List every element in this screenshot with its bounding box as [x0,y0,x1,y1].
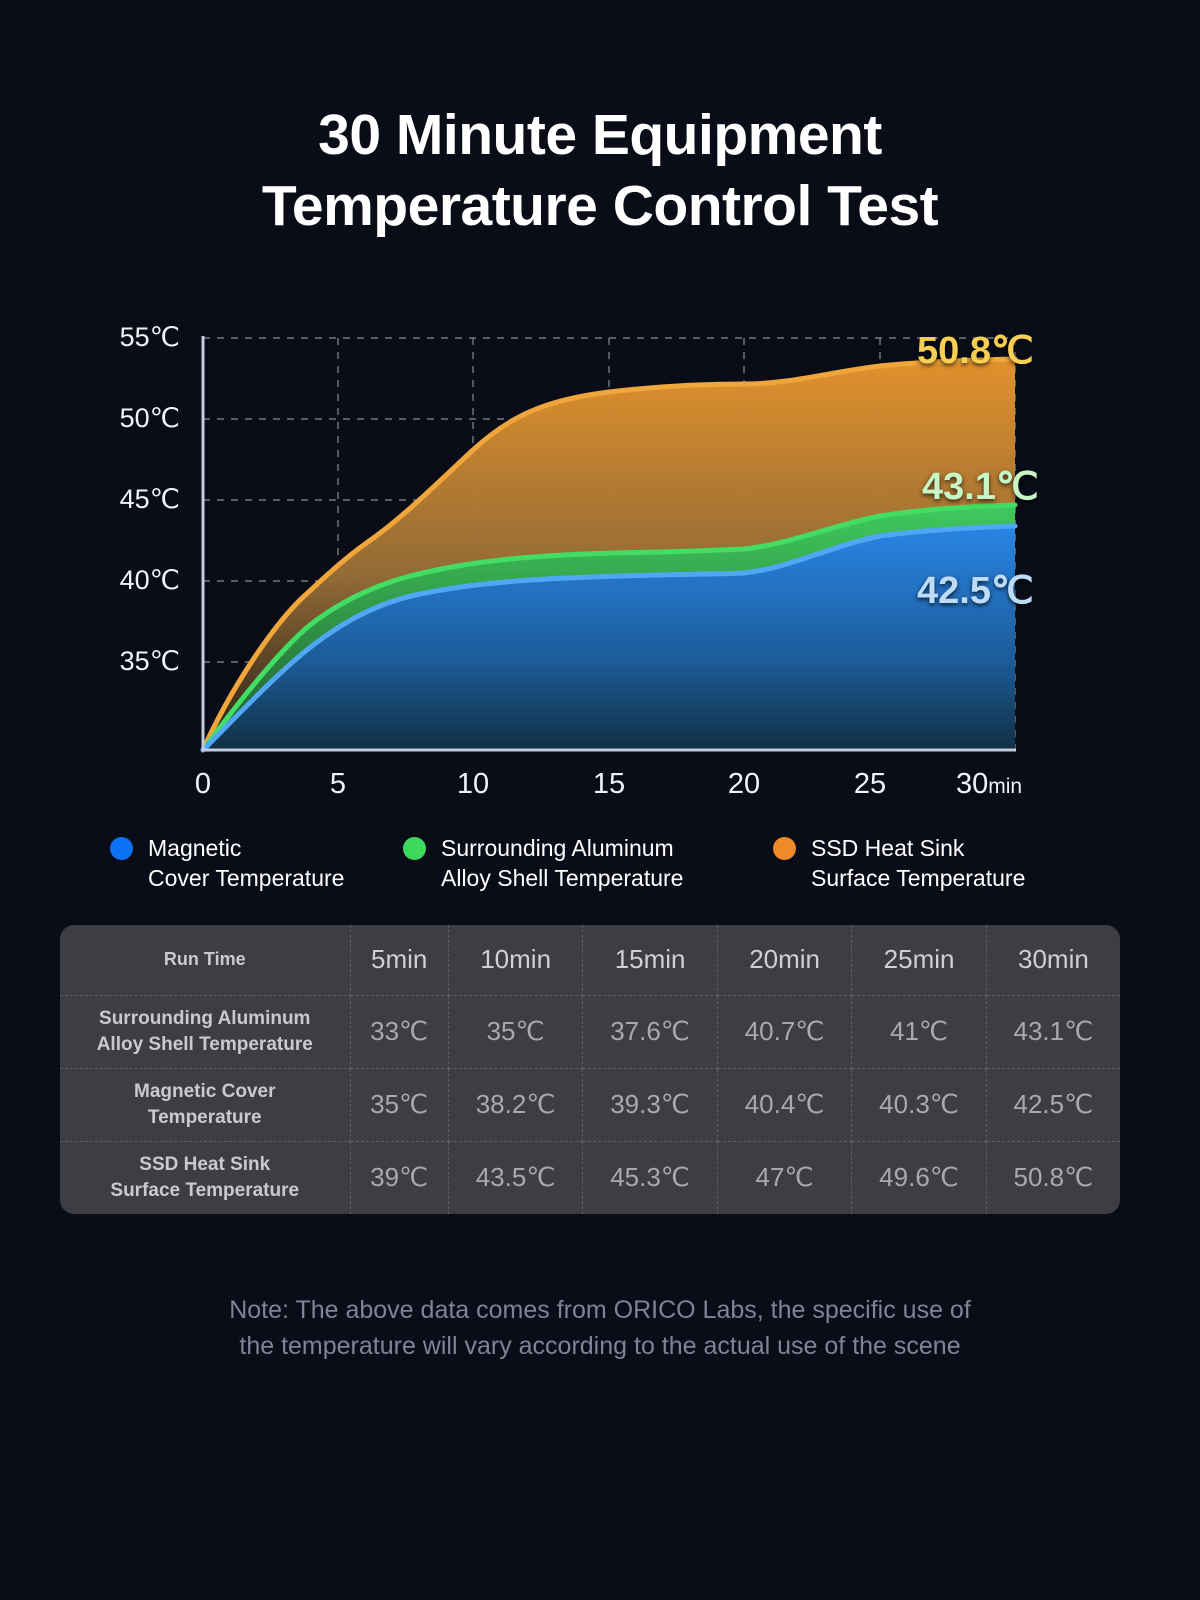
page-title-line-2: Temperature Control Test [0,171,1200,242]
x-axis-label-30-value: 30 [956,768,988,800]
x-axis-label-20: 20 [699,768,789,801]
y-axis-label-50: 50℃ [90,403,180,434]
legend-dot-icon-aluminum-shell [403,837,426,860]
column-header-5min: 5min [350,925,448,995]
x-axis-label-10: 10 [428,768,518,801]
x-axis-label-25: 25 [825,768,915,801]
x-axis-label-30: 30min [956,768,1096,801]
x-axis-label-5: 5 [293,768,383,801]
cell-magnetic-30min: 42.5℃ [986,1068,1120,1141]
cell-ssd-25min: 49.6℃ [852,1141,986,1214]
column-header-10min: 10min [448,925,582,995]
cell-aluminum-30min: 43.1℃ [986,995,1120,1068]
footnote-line-2: the temperature will vary according to t… [100,1328,1100,1364]
legend-label-line-1: Surrounding Aluminum [441,833,683,863]
row-label-line-2: Alloy Shell Temperature [74,1032,336,1058]
column-header-20min: 20min [717,925,851,995]
legend-label-ssd-heat-sink: SSD Heat Sink Surface Temperature [811,833,1025,894]
table-row: SSD Heat Sink Surface Temperature 39℃ 43… [60,1141,1120,1214]
data-table: Run Time 5min 10min 15min 20min 25min 30… [60,925,1120,1214]
cell-ssd-15min: 45.3℃ [583,1141,717,1214]
legend-dot-icon-ssd-heat-sink [773,837,796,860]
data-label-aluminum-shell: 43.1℃ [922,464,1039,509]
y-axis-label-45: 45℃ [90,484,180,515]
legend-label-line-1: SSD Heat Sink [811,833,1025,863]
cell-aluminum-20min: 40.7℃ [717,995,851,1068]
cell-aluminum-25min: 41℃ [852,995,986,1068]
legend-label-aluminum-shell: Surrounding Aluminum Alloy Shell Tempera… [441,833,683,894]
table-row: Magnetic Cover Temperature 35℃ 38.2℃ 39.… [60,1068,1120,1141]
row-label-line-1: Magnetic Cover [74,1079,336,1105]
table-row: Surrounding Aluminum Alloy Shell Tempera… [60,995,1120,1068]
temperature-data-table: Run Time 5min 10min 15min 20min 25min 30… [60,925,1120,1214]
row-label-line-1: Surrounding Aluminum [74,1006,336,1032]
infographic-page: 30 Minute Equipment Temperature Control … [0,0,1200,1600]
row-label-ssd-heat-sink: SSD Heat Sink Surface Temperature [60,1141,350,1214]
column-header-30min: 30min [986,925,1120,995]
page-title: 30 Minute Equipment Temperature Control … [0,100,1200,243]
x-axis-unit-label: min [988,775,1022,798]
y-axis-label-55: 55℃ [90,322,180,353]
legend-dot-icon-magnetic-cover [110,837,133,860]
legend-item-aluminum-shell[interactable]: Surrounding Aluminum Alloy Shell Tempera… [403,833,773,894]
data-label-ssd-heat-sink: 50.8℃ [917,328,1034,373]
legend-label-line-2: Surface Temperature [811,863,1025,893]
data-label-magnetic-cover: 42.5℃ [917,568,1034,613]
cell-ssd-10min: 43.5℃ [448,1141,582,1214]
cell-ssd-30min: 50.8℃ [986,1141,1120,1214]
cell-aluminum-15min: 37.6℃ [583,995,717,1068]
cell-magnetic-20min: 40.4℃ [717,1068,851,1141]
row-label-magnetic-cover: Magnetic Cover Temperature [60,1068,350,1141]
legend-item-ssd-heat-sink[interactable]: SSD Heat Sink Surface Temperature [773,833,1103,894]
column-header-25min: 25min [852,925,986,995]
cell-magnetic-10min: 38.2℃ [448,1068,582,1141]
footnote: Note: The above data comes from ORICO La… [100,1292,1100,1365]
cell-ssd-20min: 47℃ [717,1141,851,1214]
chart-legend: Magnetic Cover Temperature Surrounding A… [110,833,1110,894]
cell-ssd-5min: 39℃ [350,1141,448,1214]
legend-label-line-2: Alloy Shell Temperature [441,863,683,893]
cell-magnetic-25min: 40.3℃ [852,1068,986,1141]
footnote-line-1: Note: The above data comes from ORICO La… [100,1292,1100,1328]
cell-aluminum-10min: 35℃ [448,995,582,1068]
temperature-area-chart: 55℃ 50℃ 45℃ 40℃ 35℃ 0 5 10 15 20 25 30mi… [0,300,1200,820]
row-label-line-2: Surface Temperature [74,1178,336,1204]
y-axis-label-35: 35℃ [90,646,180,677]
legend-label-magnetic-cover: Magnetic Cover Temperature [148,833,344,894]
cell-magnetic-15min: 39.3℃ [583,1068,717,1141]
chart-svg [0,300,1200,820]
table-header-row: Run Time 5min 10min 15min 20min 25min 30… [60,925,1120,995]
x-axis-label-0: 0 [158,768,248,801]
legend-label-line-2: Cover Temperature [148,863,344,893]
cell-aluminum-5min: 33℃ [350,995,448,1068]
row-label-aluminum-shell: Surrounding Aluminum Alloy Shell Tempera… [60,995,350,1068]
legend-label-line-1: Magnetic [148,833,344,863]
x-axis-label-15: 15 [564,768,654,801]
table-header: Run Time 5min 10min 15min 20min 25min 30… [60,925,1120,995]
page-title-line-1: 30 Minute Equipment [0,100,1200,171]
row-label-line-1: SSD Heat Sink [74,1152,336,1178]
table-body: Surrounding Aluminum Alloy Shell Tempera… [60,995,1120,1214]
column-header-run-time: Run Time [60,925,350,995]
y-axis-label-40: 40℃ [90,565,180,596]
row-label-line-2: Temperature [74,1105,336,1131]
cell-magnetic-5min: 35℃ [350,1068,448,1141]
legend-item-magnetic-cover[interactable]: Magnetic Cover Temperature [110,833,403,894]
column-header-15min: 15min [583,925,717,995]
